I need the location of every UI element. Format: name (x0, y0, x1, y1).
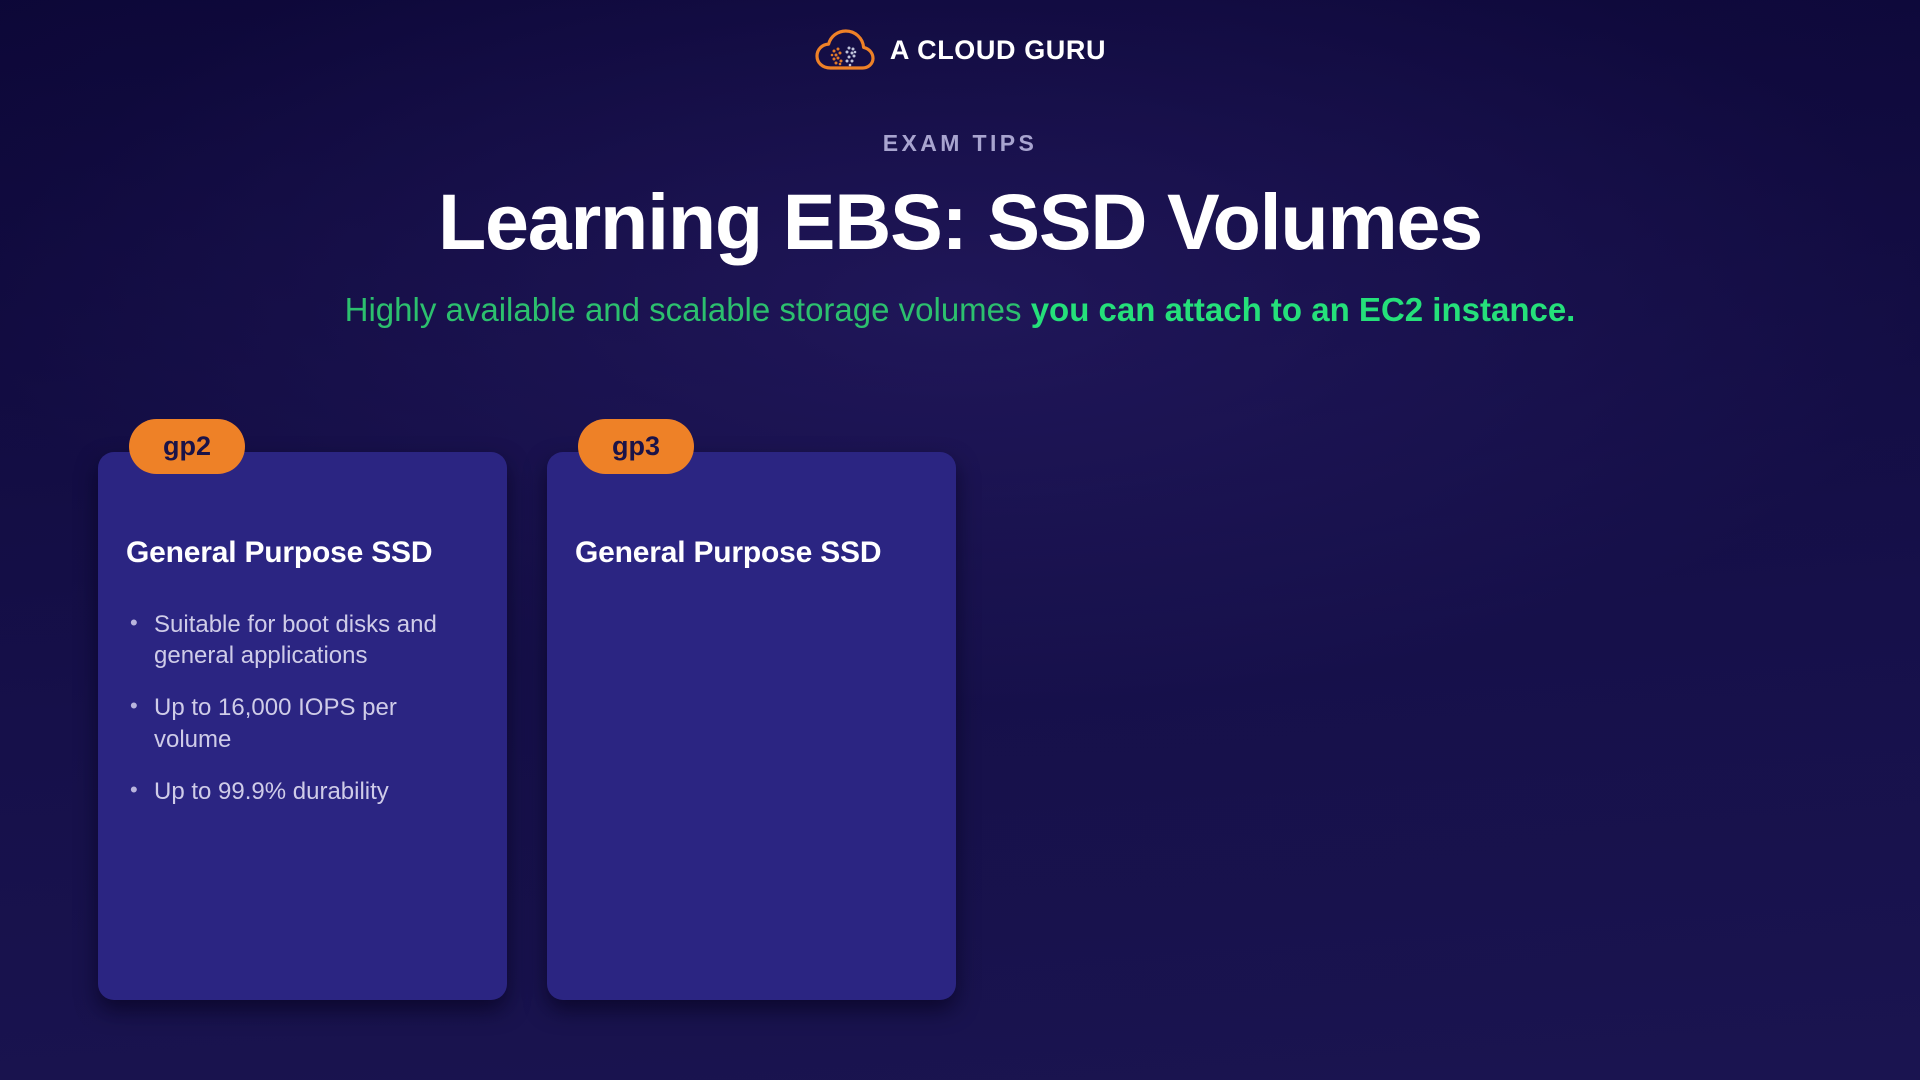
slide-canvas: A CLOUD GURU EXAM TIPS Learning EBS: SSD… (0, 0, 1920, 1080)
card-title: General Purpose SSD (575, 536, 928, 571)
status-badge: gp3 (578, 419, 694, 474)
brand-header: A CLOUD GURU (0, 28, 1920, 72)
eyebrow-label: EXAM TIPS (0, 132, 1920, 155)
status-badge: gp2 (129, 419, 245, 474)
card-bullet-list: Suitable for boot disks and general appl… (126, 609, 479, 809)
subtitle: Highly available and scalable storage vo… (0, 290, 1920, 330)
cloud-icon (814, 28, 876, 72)
brand-name: A CLOUD GURU (890, 37, 1106, 64)
list-item: Up to 16,000 IOPS per volume (126, 692, 479, 756)
subtitle-lead: Highly available and scalable storage vo… (345, 291, 1031, 328)
list-item: Suitable for boot disks and general appl… (126, 609, 479, 673)
volume-card-gp3: gp3 General Purpose SSD (547, 452, 956, 1000)
page-title: Learning EBS: SSD Volumes (0, 181, 1920, 264)
slide-header: EXAM TIPS Learning EBS: SSD Volumes High… (0, 132, 1920, 330)
list-item: Up to 99.9% durability (126, 776, 479, 808)
subtitle-strong: you can attach to an EC2 instance. (1031, 291, 1576, 328)
volume-card-gp2: gp2 General Purpose SSD Suitable for boo… (98, 452, 507, 1000)
card-title: General Purpose SSD (126, 536, 479, 571)
volume-card-list: gp2 General Purpose SSD Suitable for boo… (98, 452, 956, 1000)
